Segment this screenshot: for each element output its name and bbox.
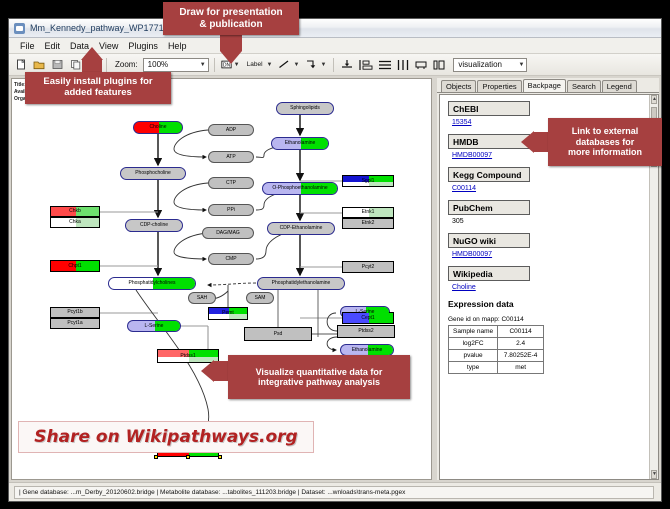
interaction-tool-icon[interactable] [303,57,319,73]
new-file-icon[interactable] [13,57,29,73]
callout-links: Link to external databases for more info… [548,118,662,166]
selection-handle-s[interactable] [186,455,190,459]
node-phosphatidylcholines[interactable]: Phosphatidylcholines [108,277,196,290]
app-icon [14,23,25,34]
side-panel-tabs: Objects Properties Backpage Search Legen… [437,78,659,93]
save-file-icon[interactable] [49,57,65,73]
visualization-value: visualization [458,60,502,69]
db-link-kegg-compound[interactable]: C00114 [452,185,658,192]
statusbar: | Gene database: ...m_Derby_20120602.bri… [9,482,661,501]
node-phosphatidylethanolamine[interactable]: Phosphatidylethanolamine [257,277,345,290]
expr-key-sample-name: Sample name [449,326,498,338]
node-label: Psd [274,332,283,337]
node-label: Phosphatidylcholines [129,281,176,286]
node-choline-top[interactable]: Choline [133,121,183,134]
table-row: type met [449,362,544,374]
node-pcyt2[interactable]: Pcyt2 [342,261,394,273]
label-dropdown-icon[interactable]: ▼ [267,62,273,68]
node-sah[interactable]: SAH [188,292,216,304]
node-label: Pcyt1a [67,321,82,326]
node-ptdss2[interactable]: Ptdss2 [337,325,395,338]
expr-key-log2fc: log2FC [449,338,498,350]
tab-legend[interactable]: Legend [602,80,637,92]
line-dropdown-icon[interactable]: ▼ [293,62,299,68]
node-ethanolamine-top[interactable]: Ethanolamine [271,137,329,150]
node-label: Chka [69,220,81,225]
node-psd[interactable]: Psd [244,327,312,341]
node-dag-mag[interactable]: DAG/MAG [202,227,254,239]
callout-plugins: Easily install plugins for added feature… [25,72,171,104]
legend-icon[interactable] [431,57,447,73]
open-file-icon[interactable] [31,57,47,73]
node-label: Phosphatidylethanolamine [272,281,331,286]
db-value-pubchem: 305 [452,218,658,225]
align-left-icon[interactable] [357,57,375,73]
interaction-dropdown-icon[interactable]: ▼ [320,62,326,68]
callout-draw-arrow-icon [220,51,242,64]
node-phosphocholine[interactable]: Phosphocholine [120,167,186,180]
db-header-kegg-compound: Kegg Compound [448,167,530,182]
node-label: Pcyt2 [362,265,375,270]
node-label: L-Serine [145,324,164,329]
line-tool-icon[interactable] [276,57,292,73]
node-label: SAH [197,296,207,301]
screenshot-root: Mm_Kennedy_pathway_WP1771_45176.gpml Fil… [0,0,670,509]
node-cmp[interactable]: CMP [208,253,254,265]
distribute-horizontal-icon[interactable] [395,57,411,73]
menu-edit[interactable]: Edit [40,41,66,51]
db-header-wikipedia: Wikipedia [448,266,530,281]
pathway-connections [12,79,432,480]
node-cdp-choline[interactable]: CDP-choline [125,219,183,232]
menubar: File Edit Data View Plugins Help [9,38,661,54]
node-label: ATP [226,155,235,160]
node-label: SAM [255,296,266,301]
expr-key-pvalue: pvalue [449,350,498,362]
node-label: Cept1 [361,316,374,321]
node-etnk1[interactable]: Etnk1 [342,207,394,218]
node-adp[interactable]: ADP [208,124,254,136]
node-label: L-Serine [356,310,375,315]
node-label: Sgpl1 [362,179,375,184]
node-label: O-Phosphoethanolamine [272,186,327,191]
db-header-chebi: ChEBI [448,101,530,116]
tab-search[interactable]: Search [567,80,601,92]
db-header-pubchem: PubChem [448,200,530,215]
node-label: Choline [150,125,167,130]
scroll-up-arrow-icon[interactable]: ▲ [651,95,657,104]
node-label: Ethanolamine [352,348,383,353]
node-label: Ethanolamine [285,141,316,146]
node-chka[interactable]: Chka [50,217,100,228]
zoom-value: 100% [148,60,168,69]
node-ctp[interactable]: CTP [208,177,254,189]
node-o-phosphoethanolamine[interactable]: O-Phosphoethanolamine [262,182,338,195]
node-sam[interactable]: SAM [246,292,274,304]
node-label: DAG/MAG [216,231,240,236]
table-row: pvalue 7.80252E-4 [449,350,544,362]
node-label: Ptdss1 [180,354,195,359]
callout-links-arrow-icon [521,131,534,153]
selection-handle-se[interactable] [218,455,222,459]
expr-val-type: met [498,362,544,374]
node-label: Ptdss2 [358,329,373,334]
db-link-nugo-wiki[interactable]: HMDB00097 [452,251,658,258]
tab-properties[interactable]: Properties [477,80,521,92]
node-l-serine-left[interactable]: L-Serine [127,320,181,332]
window-titlebar: Mm_Kennedy_pathway_WP1771_45176.gpml [9,19,661,38]
node-ppi[interactable]: PPi [208,204,254,216]
expr-val-sample-name: C00114 [498,326,544,338]
callout-draw-stem [220,35,242,51]
node-pcyt1b[interactable]: Pcyt1b [50,307,100,318]
callout-draw: Draw for presentation & publication [163,2,299,35]
expression-data-title: Expression data [448,299,658,309]
table-row: log2FC 2.4 [449,338,544,350]
menu-file[interactable]: File [15,41,40,51]
stack-vertical-icon[interactable] [377,57,393,73]
toolbar-separator-2 [214,58,215,72]
toolbar-separator-3 [333,58,334,72]
db-link-wikipedia[interactable]: Choline [452,284,658,291]
callout-visualize: Visualize quantitative data for integrat… [228,355,410,399]
node-sphingolipids[interactable]: Sphingolipids [276,102,334,115]
expression-table: Sample name C00114 log2FC 2.4 pvalue 7.8… [448,325,544,374]
callout-visualize-arrow-icon [201,360,214,382]
node-cdp-ethanolamine[interactable]: CDP-Ethanolamine [267,222,335,235]
toolbar-separator-1 [106,58,107,72]
callout-plugins-arrow-icon [81,47,103,60]
node-label: Sphingolipids [290,106,320,111]
menu-help[interactable]: Help [163,41,192,51]
zoom-combobox[interactable]: 100% ▼ [143,58,209,72]
gene-id-on-mapp: Gene id on mapp: C00114 [448,316,658,323]
menu-plugins[interactable]: Plugins [123,41,163,51]
node-atp[interactable]: ATP [208,151,254,163]
visualization-combobox[interactable]: visualization ▼ [453,58,527,72]
node-label: Etnk2 [362,221,375,226]
node-label: PPi [227,208,235,213]
node-label: Pcyt1b [67,310,82,315]
scroll-down-arrow-icon[interactable]: ▼ [651,470,657,479]
node-label: CDP-Ethanolamine [280,226,323,231]
node-label: Phosphocholine [135,171,171,176]
tab-objects[interactable]: Objects [441,80,476,92]
node-label: CDP-choline [140,223,168,228]
zoom-label: Zoom: [115,60,138,69]
node-label: Etnk1 [362,210,375,215]
group-icon[interactable] [413,57,429,73]
callout-share: Share on Wikipathways.org [18,421,314,453]
db-header-hmdb: HMDB [448,134,530,149]
tab-backpage[interactable]: Backpage [523,79,566,92]
node-label: Chpt1 [68,264,81,269]
node-pcyt1a[interactable]: Pcyt1a [50,318,100,329]
node-chkb[interactable]: Chkb [50,206,100,217]
align-center-icon[interactable] [339,57,355,73]
chevron-down-icon: ▼ [200,62,206,68]
node-label: CTP [226,181,236,186]
chevron-down-icon: ▼ [518,62,524,68]
pathway-canvas[interactable]: Title: Availab Organis [11,78,432,480]
node-label: CMP [225,257,236,262]
node-chpt1[interactable]: Chpt1 [50,260,100,272]
expr-val-pvalue: 7.80252E-4 [498,350,544,362]
node-label: Chkb [69,209,81,214]
node-pemt[interactable]: Pemt [208,307,248,320]
expr-key-type: type [449,362,498,374]
db-header-nugo-wiki: NuGO wiki [448,233,530,248]
selection-handle-sw[interactable] [154,455,158,459]
node-etnk2[interactable]: Etnk2 [342,218,394,229]
node-label: Pemt [222,311,234,316]
node-sgpl1[interactable]: Sgpl1 [342,175,394,187]
expr-val-log2fc: 2.4 [498,338,544,350]
statusbar-text: | Gene database: ...m_Derby_20120602.bri… [14,486,654,499]
table-row: Sample name C00114 [449,326,544,338]
node-label: ADP [226,128,236,133]
label-tool-label[interactable]: Label [247,61,263,68]
